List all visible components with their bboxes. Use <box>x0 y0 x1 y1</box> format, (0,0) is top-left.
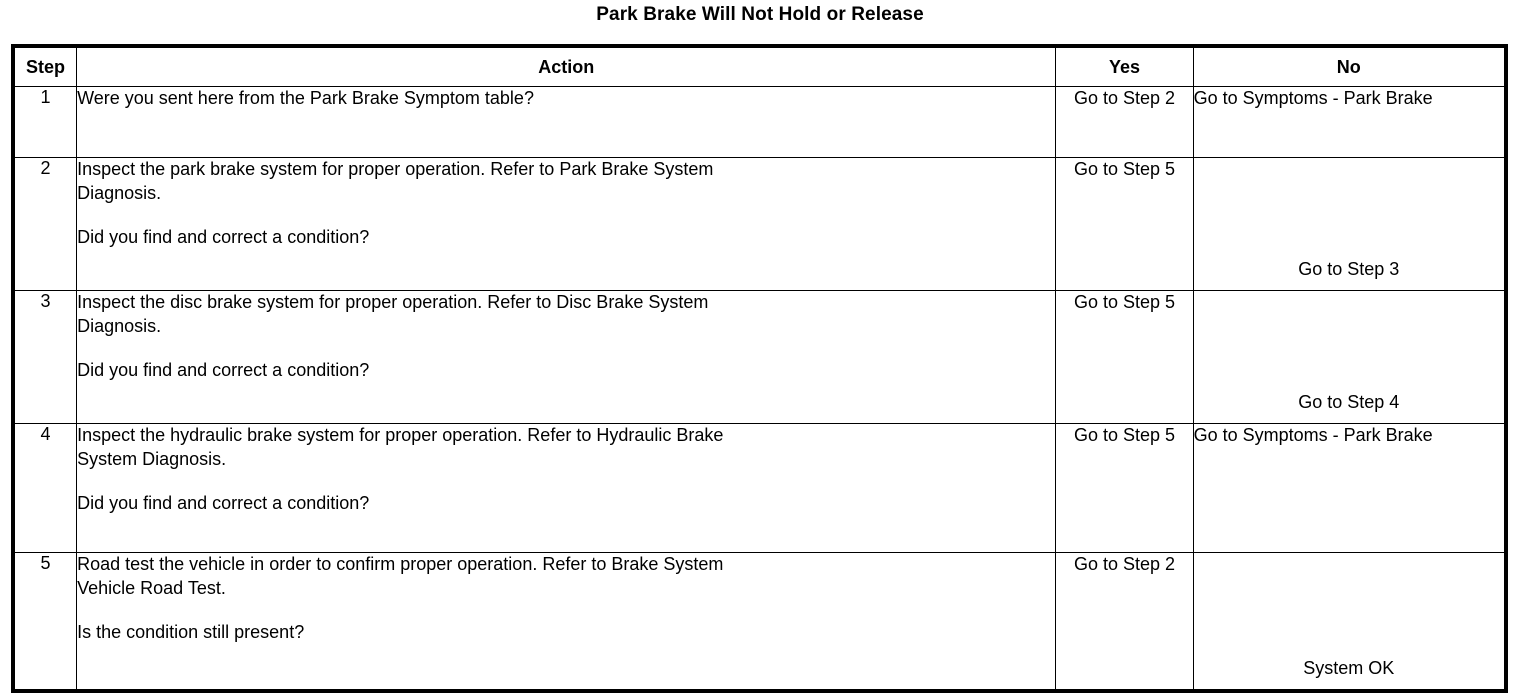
action-spacer <box>77 206 1055 226</box>
no-result: System OK <box>1193 553 1504 690</box>
diagnostic-table-container: Step Action Yes No 1 Were you sent here … <box>11 44 1508 693</box>
step-number: 1 <box>15 87 77 158</box>
yes-result: Go to Step 5 <box>1056 291 1193 424</box>
table-row: 1 Were you sent here from the Park Brake… <box>15 87 1505 158</box>
step-action: Inspect the hydraulic brake system for p… <box>77 424 1056 553</box>
step-action: Inspect the disc brake system for proper… <box>77 291 1056 424</box>
no-result: Go to Step 4 <box>1193 291 1504 424</box>
action-spacer <box>77 339 1055 359</box>
column-header-step: Step <box>15 48 77 87</box>
step-number: 2 <box>15 158 77 291</box>
no-result: Go to Symptoms - Park Brake <box>1193 87 1504 158</box>
page-title: Park Brake Will Not Hold or Release <box>0 4 1520 26</box>
action-spacer <box>77 472 1055 492</box>
table-row: 4 Inspect the hydraulic brake system for… <box>15 424 1505 553</box>
step-action: Were you sent here from the Park Brake S… <box>77 87 1056 158</box>
no-result: Go to Symptoms - Park Brake <box>1193 424 1504 553</box>
diagnostic-table: Step Action Yes No 1 Were you sent here … <box>14 47 1505 690</box>
action-question: Did you find and correct a condition? <box>77 492 1055 516</box>
action-line-2: Diagnosis. <box>77 315 1055 339</box>
action-line-1: Road test the vehicle in order to confir… <box>77 553 1055 577</box>
step-action: Inspect the park brake system for proper… <box>77 158 1056 291</box>
action-line-2: Vehicle Road Test. <box>77 577 1055 601</box>
table-header-row: Step Action Yes No <box>15 48 1505 87</box>
action-line-1: Inspect the park brake system for proper… <box>77 158 1055 182</box>
table-row: 2 Inspect the park brake system for prop… <box>15 158 1505 291</box>
yes-result: Go to Step 5 <box>1056 424 1193 553</box>
action-question: Did you find and correct a condition? <box>77 226 1055 250</box>
action-line-1: Inspect the hydraulic brake system for p… <box>77 424 1055 448</box>
column-header-action: Action <box>77 48 1056 87</box>
action-line-1: Were you sent here from the Park Brake S… <box>77 87 1055 111</box>
yes-result: Go to Step 2 <box>1056 553 1193 690</box>
table-row: 5 Road test the vehicle in order to conf… <box>15 553 1505 690</box>
column-header-no: No <box>1193 48 1504 87</box>
document-page: Park Brake Will Not Hold or Release Step… <box>0 0 1520 676</box>
action-line-2: System Diagnosis. <box>77 448 1055 472</box>
step-number: 4 <box>15 424 77 553</box>
action-spacer <box>77 601 1055 621</box>
yes-result: Go to Step 2 <box>1056 87 1193 158</box>
step-action: Road test the vehicle in order to confir… <box>77 553 1056 690</box>
action-question: Did you find and correct a condition? <box>77 359 1055 383</box>
action-question: Is the condition still present? <box>77 621 1055 645</box>
step-number: 5 <box>15 553 77 690</box>
table-row: 3 Inspect the disc brake system for prop… <box>15 291 1505 424</box>
column-header-yes: Yes <box>1056 48 1193 87</box>
action-line-2: Diagnosis. <box>77 182 1055 206</box>
no-result: Go to Step 3 <box>1193 158 1504 291</box>
step-number: 3 <box>15 291 77 424</box>
action-line-1: Inspect the disc brake system for proper… <box>77 291 1055 315</box>
yes-result: Go to Step 5 <box>1056 158 1193 291</box>
